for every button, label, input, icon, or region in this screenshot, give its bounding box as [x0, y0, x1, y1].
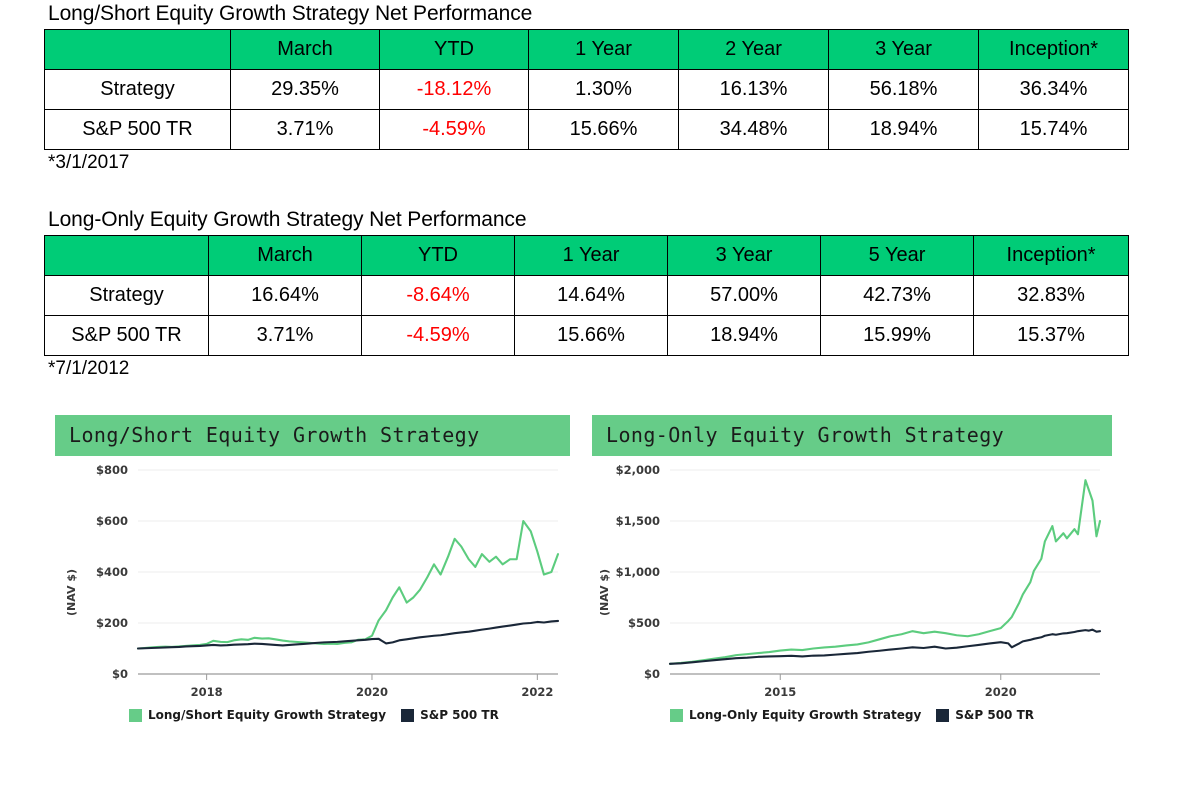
y-axis-tick-label: $0 — [112, 667, 128, 681]
column-header-3-year: 3 Year — [829, 30, 979, 70]
legend-swatch-strategy-icon — [129, 709, 142, 722]
cell-3-year: 18.94% — [829, 110, 979, 150]
cell-3-year: 57.00% — [668, 276, 821, 316]
row-label-benchmark: S&P 500 TR — [45, 316, 209, 356]
table-title: Long/Short Equity Growth Strategy Net Pe… — [48, 2, 1129, 26]
cell-1-year: 14.64% — [515, 276, 668, 316]
y-axis-tick-label: $200 — [96, 616, 128, 630]
column-header-1-year: 1 Year — [529, 30, 679, 70]
table-row: Strategy 29.35% -18.12% 1.30% 16.13% 56.… — [45, 70, 1129, 110]
y-axis-tick-label: $400 — [96, 565, 128, 579]
legend-swatch-benchmark-icon — [936, 709, 949, 722]
cell-march: 3.71% — [209, 316, 362, 356]
cell-march: 16.64% — [209, 276, 362, 316]
cell-inception: 15.37% — [974, 316, 1129, 356]
cell-2-year: 16.13% — [679, 70, 829, 110]
table-block-long-short: Long/Short Equity Growth Strategy Net Pe… — [44, 2, 1129, 174]
table-header-row: March YTD 1 Year 2 Year 3 Year Inception… — [45, 30, 1129, 70]
column-header-inception: Inception* — [979, 30, 1129, 70]
line-chart-long-only: $0$500$1,000$1,500$2,00020152020 — [592, 456, 1112, 746]
column-header-2-year: 2 Year — [679, 30, 829, 70]
line-chart-long-short: $0$200$400$600$800201820202022 — [55, 456, 570, 746]
legend-entry-strategy: Long/Short Equity Growth Strategy — [129, 708, 386, 722]
y-axis-tick-label: $0 — [644, 667, 660, 681]
table-row: S&P 500 TR 3.71% -4.59% 15.66% 34.48% 18… — [45, 110, 1129, 150]
table-row: S&P 500 TR 3.71% -4.59% 15.66% 18.94% 15… — [45, 316, 1129, 356]
legend-label-strategy: Long-Only Equity Growth Strategy — [689, 708, 921, 722]
legend-label-benchmark: S&P 500 TR — [420, 708, 499, 722]
series-line-benchmark — [670, 630, 1100, 664]
y-axis-tick-label: $1,000 — [616, 565, 660, 579]
cell-march: 29.35% — [231, 70, 380, 110]
legend-entry-benchmark: S&P 500 TR — [401, 708, 499, 722]
x-axis-tick-label: 2020 — [985, 685, 1017, 699]
chart-title-long-short: Long/Short Equity Growth Strategy — [55, 415, 570, 456]
chart-body-long-only: (NAV $) $0$500$1,000$1,500$2,00020152020… — [592, 456, 1112, 746]
x-axis-tick-label: 2018 — [191, 685, 223, 699]
column-header-3-year: 3 Year — [668, 236, 821, 276]
cell-ytd: -4.59% — [380, 110, 529, 150]
legend-label-benchmark: S&P 500 TR — [955, 708, 1034, 722]
chart-legend-long-short: Long/Short Equity Growth Strategy S&P 50… — [129, 708, 499, 722]
y-axis-tick-label: $1,500 — [616, 514, 660, 528]
column-header-ytd: YTD — [362, 236, 515, 276]
column-header-march: March — [231, 30, 380, 70]
y-axis-tick-label: $2,000 — [616, 463, 660, 477]
table-footnote: *7/1/2012 — [48, 358, 1129, 380]
performance-table-long-only: March YTD 1 Year 3 Year 5 Year Inception… — [44, 235, 1129, 356]
legend-entry-benchmark: S&P 500 TR — [936, 708, 1034, 722]
cell-inception: 15.74% — [979, 110, 1129, 150]
x-axis-tick-label: 2015 — [764, 685, 796, 699]
chart-card-long-short: Long/Short Equity Growth Strategy (NAV $… — [55, 415, 570, 746]
legend-swatch-benchmark-icon — [401, 709, 414, 722]
cell-5-year: 15.99% — [821, 316, 974, 356]
cell-1-year: 15.66% — [529, 110, 679, 150]
cell-ytd: -18.12% — [380, 70, 529, 110]
chart-title-long-only: Long-Only Equity Growth Strategy — [592, 415, 1112, 456]
legend-entry-strategy: Long-Only Equity Growth Strategy — [670, 708, 921, 722]
column-header-ytd: YTD — [380, 30, 529, 70]
y-axis-tick-label: $500 — [628, 616, 660, 630]
table-title: Long-Only Equity Growth Strategy Net Per… — [48, 208, 1129, 232]
table-header-row: March YTD 1 Year 3 Year 5 Year Inception… — [45, 236, 1129, 276]
cell-ytd: -4.59% — [362, 316, 515, 356]
row-label-strategy: Strategy — [45, 70, 231, 110]
cell-1-year: 15.66% — [515, 316, 668, 356]
column-header-blank — [45, 236, 209, 276]
chart-card-long-only: Long-Only Equity Growth Strategy (NAV $)… — [592, 415, 1112, 746]
chart-body-long-short: (NAV $) $0$200$400$600$800201820202022 L… — [55, 456, 570, 746]
y-axis-tick-label: $600 — [96, 514, 128, 528]
cell-inception: 32.83% — [974, 276, 1129, 316]
cell-1-year: 1.30% — [529, 70, 679, 110]
column-header-5-year: 5 Year — [821, 236, 974, 276]
x-axis-tick-label: 2020 — [356, 685, 388, 699]
legend-label-strategy: Long/Short Equity Growth Strategy — [148, 708, 386, 722]
cell-ytd: -8.64% — [362, 276, 515, 316]
row-label-strategy: Strategy — [45, 276, 209, 316]
cell-march: 3.71% — [231, 110, 380, 150]
legend-swatch-strategy-icon — [670, 709, 683, 722]
series-line-strategy — [138, 521, 558, 649]
performance-table-long-short: March YTD 1 Year 2 Year 3 Year Inception… — [44, 29, 1129, 150]
y-axis-tick-label: $800 — [96, 463, 128, 477]
table-block-long-only: Long-Only Equity Growth Strategy Net Per… — [44, 208, 1129, 380]
cell-inception: 36.34% — [979, 70, 1129, 110]
column-header-blank — [45, 30, 231, 70]
cell-3-year: 56.18% — [829, 70, 979, 110]
table-row: Strategy 16.64% -8.64% 14.64% 57.00% 42.… — [45, 276, 1129, 316]
table-footnote: *3/1/2017 — [48, 152, 1129, 174]
column-header-march: March — [209, 236, 362, 276]
x-axis-tick-label: 2022 — [521, 685, 553, 699]
cell-5-year: 42.73% — [821, 276, 974, 316]
report-page: Long/Short Equity Growth Strategy Net Pe… — [0, 0, 1200, 807]
cell-2-year: 34.48% — [679, 110, 829, 150]
row-label-benchmark: S&P 500 TR — [45, 110, 231, 150]
column-header-1-year: 1 Year — [515, 236, 668, 276]
chart-legend-long-only: Long-Only Equity Growth Strategy S&P 500… — [670, 708, 1034, 722]
column-header-inception: Inception* — [974, 236, 1129, 276]
cell-3-year: 18.94% — [668, 316, 821, 356]
